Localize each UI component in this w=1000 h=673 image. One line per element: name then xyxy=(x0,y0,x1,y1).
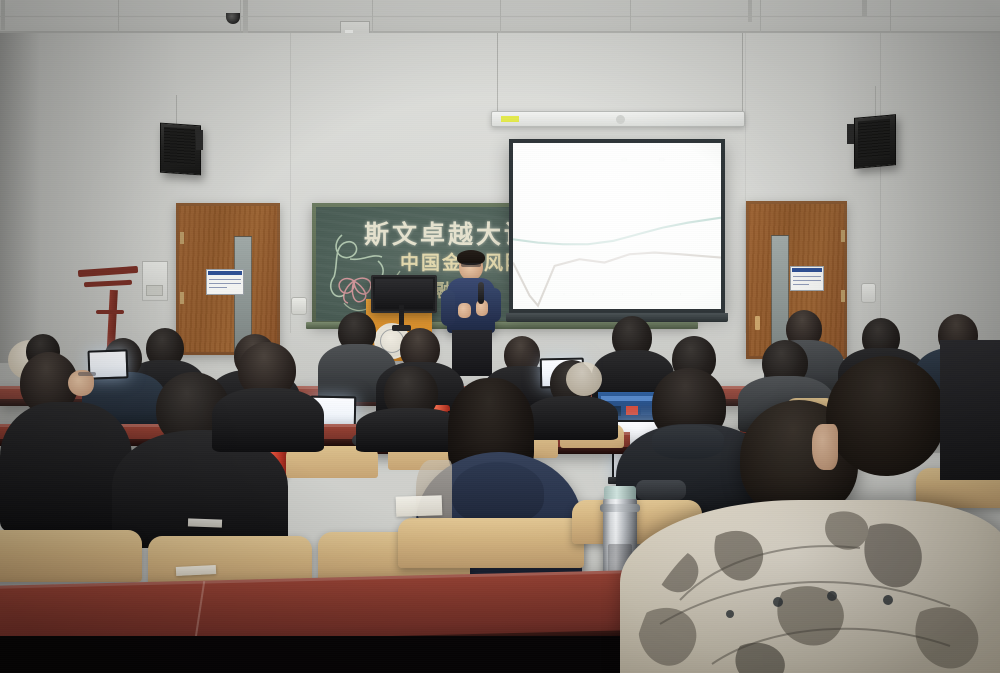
door-right-sign-header xyxy=(792,268,822,272)
electrical-panel-plate xyxy=(146,285,163,296)
screen-bottom-bar xyxy=(506,313,728,322)
lecturer-glasses xyxy=(461,263,481,267)
wall-speaker-right xyxy=(854,114,896,169)
speaker-left-bracket xyxy=(196,130,203,150)
lecturer-hand-left xyxy=(458,303,471,318)
ceiling-conduit-right xyxy=(748,0,752,22)
speaker-right-bracket xyxy=(847,124,854,144)
speaker-cable-right xyxy=(875,86,876,118)
camouflage-pattern xyxy=(620,496,1000,673)
screen-glare xyxy=(513,143,721,309)
student-body xyxy=(526,396,618,440)
speaker-cable-left xyxy=(176,95,177,127)
projection-screen-surface: ··· ··· ▭▭ xyxy=(513,143,721,309)
wall-speaker-left xyxy=(160,123,201,176)
handheld-microphone xyxy=(478,282,484,304)
door-right-sign-line xyxy=(793,284,809,285)
wall-seam-left xyxy=(290,33,291,333)
screen-housing-center-pin xyxy=(616,115,625,124)
lecturer-trousers xyxy=(452,330,492,376)
door-left-sign-line xyxy=(209,279,241,280)
student-glasses xyxy=(78,372,96,376)
screen-wire-left xyxy=(497,33,498,113)
wall-outlet xyxy=(291,297,307,315)
door-left[interactable] xyxy=(176,203,280,355)
coat-rack-arm-low xyxy=(96,310,124,314)
student-camouflage-ear xyxy=(812,424,838,470)
door-right-hinge xyxy=(841,230,845,242)
chair-back-foreground[interactable] xyxy=(0,530,142,582)
door-left-hinge xyxy=(180,232,184,244)
projection-screen: ··· ··· ▭▭ xyxy=(509,139,725,313)
door-left-sign xyxy=(206,269,244,295)
laptop-blue-titlebar xyxy=(601,396,653,401)
desk-underside-shadow xyxy=(0,636,650,673)
door-right-sign-line xyxy=(793,280,821,281)
lecturer-arm-left xyxy=(441,290,455,326)
speaker-right-grille xyxy=(858,119,890,160)
door-right-sign-line xyxy=(793,276,821,277)
student-fur-hood-2 xyxy=(566,362,602,396)
lecturer-arm-right xyxy=(487,288,501,322)
left-corner-shadow xyxy=(0,33,40,363)
podium-monitor xyxy=(371,275,437,313)
screen-housing-label xyxy=(501,116,519,122)
student-camouflage-hair xyxy=(826,356,946,476)
door-right-handle[interactable] xyxy=(755,316,760,330)
door-right-sign xyxy=(790,266,824,291)
turtleneck-collar xyxy=(652,425,724,459)
door-left-sign-line xyxy=(209,287,227,288)
wall-seam-right xyxy=(880,33,881,343)
screen-roller-housing[interactable] xyxy=(491,111,745,127)
lecture-hall-photo: 斯文卓越大讲堂 中国金融风险 融监管 主办 ··· xyxy=(0,0,1000,673)
door-left-hinge xyxy=(180,292,184,304)
speaker-left-grille xyxy=(164,127,195,166)
chair-back-foreground[interactable] xyxy=(398,518,584,568)
paper-scrap[interactable] xyxy=(188,518,222,527)
paper-stack-center[interactable] xyxy=(396,495,443,517)
monitor-arm xyxy=(399,305,404,327)
light-switch-right[interactable] xyxy=(861,283,876,303)
door-left-sign-line xyxy=(209,283,241,284)
hoodie-hood xyxy=(452,462,544,524)
door-right-hinge xyxy=(841,290,845,302)
ceiling-conduit-right-2 xyxy=(862,0,867,16)
door-left-sign-header xyxy=(208,271,242,275)
podium-monitor-screen xyxy=(375,279,433,309)
door-left-panel xyxy=(179,206,277,352)
student-body-right-edge xyxy=(940,340,1000,480)
ceiling-conduit-far-left xyxy=(1,0,5,30)
laptop-blue-red-cell xyxy=(626,406,638,415)
student-body xyxy=(212,388,324,452)
monitor-base xyxy=(392,325,411,331)
screen-wire-right xyxy=(742,33,743,113)
